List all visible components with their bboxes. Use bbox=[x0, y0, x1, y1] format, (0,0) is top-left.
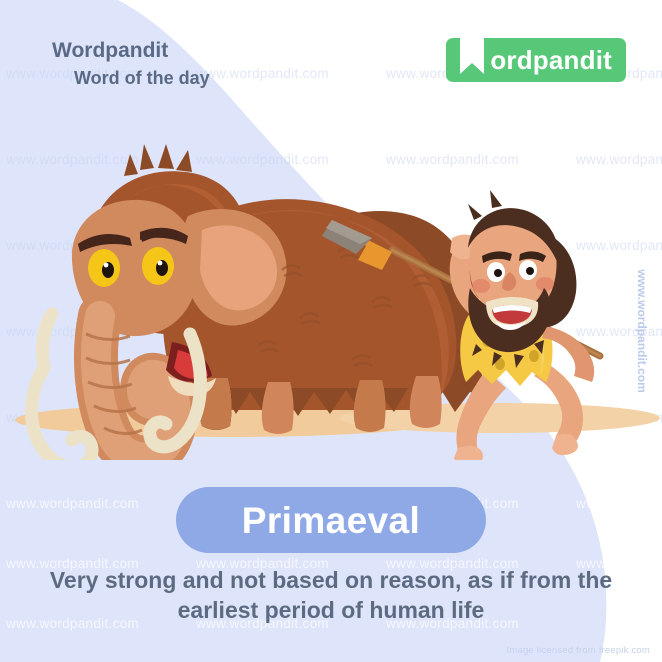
definition-line-2: earliest period of human life bbox=[30, 595, 632, 625]
illustration-scene bbox=[0, 120, 662, 460]
header-subtitle: Word of the day bbox=[74, 67, 210, 90]
definition-line-1: Very strong and not based on reason, as … bbox=[30, 565, 632, 595]
image-credit: Image licensed from freepik.com bbox=[507, 645, 650, 656]
wordpandit-logo[interactable]: ordpandit bbox=[446, 38, 626, 82]
word-definition: Very strong and not based on reason, as … bbox=[30, 565, 632, 626]
word-of-the-day-card: www.wordpandit.com www.wordpandit.com ww… bbox=[0, 0, 662, 662]
word-pill: Primaeval bbox=[176, 487, 486, 553]
brand-title: Wordpandit bbox=[52, 38, 210, 64]
word-term: Primaeval bbox=[242, 502, 420, 539]
bookmark-icon bbox=[458, 30, 486, 78]
logo-text: ordpandit bbox=[490, 47, 612, 73]
header-block: Wordpandit Word of the day bbox=[52, 38, 210, 90]
